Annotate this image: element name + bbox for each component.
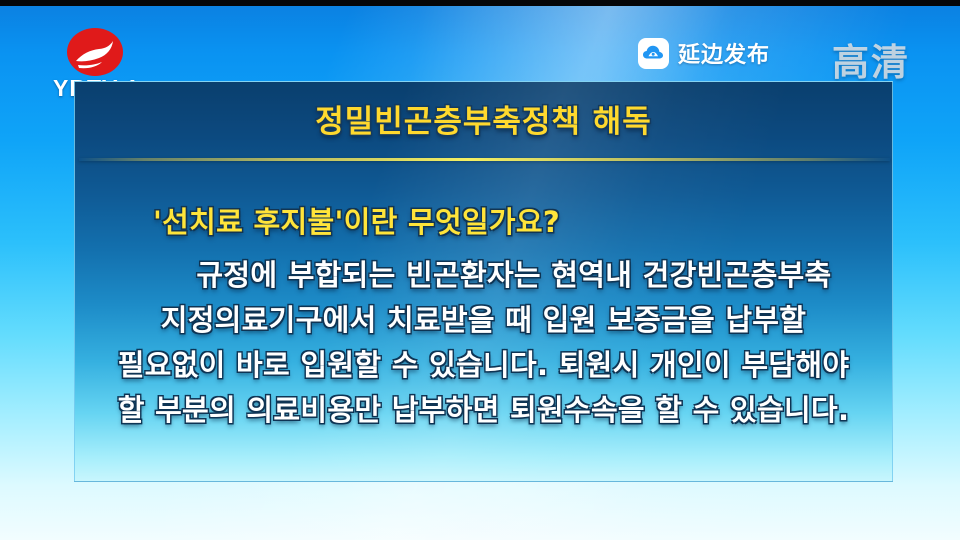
brand-name-label: 延边发布	[678, 37, 770, 69]
hd-quality-mark: 高清	[832, 32, 910, 86]
yanbian-cloud-badge-icon	[638, 38, 669, 69]
content-panel: 정밀빈곤층부축정책 해독 '선치료 후지불'이란 무엇일가요? 규정에 부합되는…	[74, 81, 893, 482]
body-question: '선치료 후지불'이란 무엇일가요?	[83, 200, 884, 245]
body-paragraph-line: 필요없이 바로 입원할 수 있습니다. 퇴원시 개인이 부담해야	[83, 343, 884, 388]
brand-watermark: 延边发布	[638, 37, 770, 69]
letterbox-strip	[0, 0, 960, 6]
broadcast-screen: YBTV-1 延边发布 高清 정밀빈곤층부축정책 해독 '선치료 후지불'이란 …	[0, 0, 960, 540]
body-paragraph-line: 규정에 부합되는 빈곤환자는 현역내 건강빈곤층부축	[83, 253, 884, 298]
ybtv-swoosh-logo-icon	[66, 27, 124, 79]
body-paragraph-line: 지정의료기구에서 치료받을 때 입원 보증금을 납부할	[83, 298, 884, 343]
headline-divider	[79, 158, 890, 161]
panel-headline: 정밀빈곤층부축정책 해독	[75, 96, 892, 141]
panel-body: '선치료 후지불'이란 무엇일가요? 규정에 부합되는 빈곤환자는 현역내 건강…	[75, 200, 892, 433]
body-paragraph-line: 할 부분의 의료비용만 납부하면 퇴원수속을 할 수 있습니다.	[83, 388, 884, 433]
